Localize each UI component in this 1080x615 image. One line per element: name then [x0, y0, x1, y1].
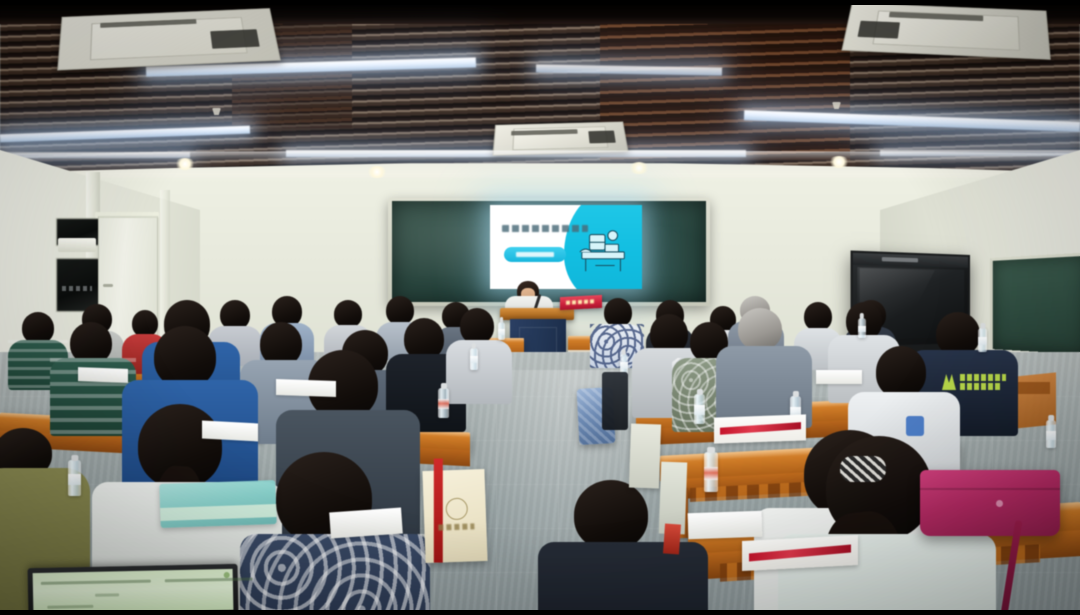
- hanging-cloth: [629, 423, 661, 488]
- water-bottle: [498, 322, 505, 340]
- ceiling-warm-panel: [600, 10, 850, 160]
- screen-indicator: [224, 572, 230, 578]
- red-banner: [560, 295, 602, 310]
- paper-sheet: [276, 379, 336, 397]
- paper-sheet: [202, 421, 258, 442]
- laptop: [28, 564, 239, 615]
- downlight-icon: [628, 162, 650, 174]
- recess-shelf-item: [58, 238, 96, 252]
- red-booklet: [714, 414, 806, 443]
- water-bottle: [438, 388, 449, 418]
- paper-sheet: [816, 370, 862, 384]
- handbag: [920, 470, 1060, 536]
- letterbox-bottom: [0, 610, 1080, 615]
- side-chalkboard: [990, 252, 1080, 354]
- hair-scrunchie: [840, 456, 886, 482]
- ac-cassette-icon: [57, 8, 281, 70]
- water-bottle: [704, 452, 718, 492]
- projection-slide: [490, 205, 642, 289]
- laptop-screen: [33, 569, 234, 614]
- water-bottle: [978, 328, 987, 352]
- downlight-icon: [174, 158, 196, 170]
- water-bottle: [694, 394, 705, 424]
- red-ribbon: [663, 523, 681, 554]
- tote-bag: [422, 469, 487, 563]
- water-bottle: [1046, 420, 1056, 448]
- downlight-icon: [366, 166, 388, 178]
- letterbox-top: [0, 0, 1080, 5]
- mint-container: [159, 480, 276, 528]
- shirt-logo-text-line1: [960, 374, 1006, 381]
- water-bottle: [68, 460, 81, 496]
- downlight-icon: [828, 156, 850, 168]
- shirt-badge: [906, 416, 924, 436]
- slide-button: [504, 247, 566, 262]
- open-notebook: [688, 511, 763, 540]
- lecture-hall-photo: [0, 0, 1080, 615]
- ac-cassette-icon: [841, 3, 1050, 60]
- shirt-logo-text-line2: [960, 383, 1000, 390]
- water-bottle: [470, 348, 478, 370]
- dark-bag: [602, 372, 628, 430]
- open-notebook: [329, 508, 403, 539]
- recess-label: [62, 286, 92, 291]
- red-booklet: [742, 535, 858, 571]
- water-bottle: [858, 318, 866, 338]
- slide-illustration-icon: [576, 223, 634, 279]
- paper-sheet: [78, 367, 128, 383]
